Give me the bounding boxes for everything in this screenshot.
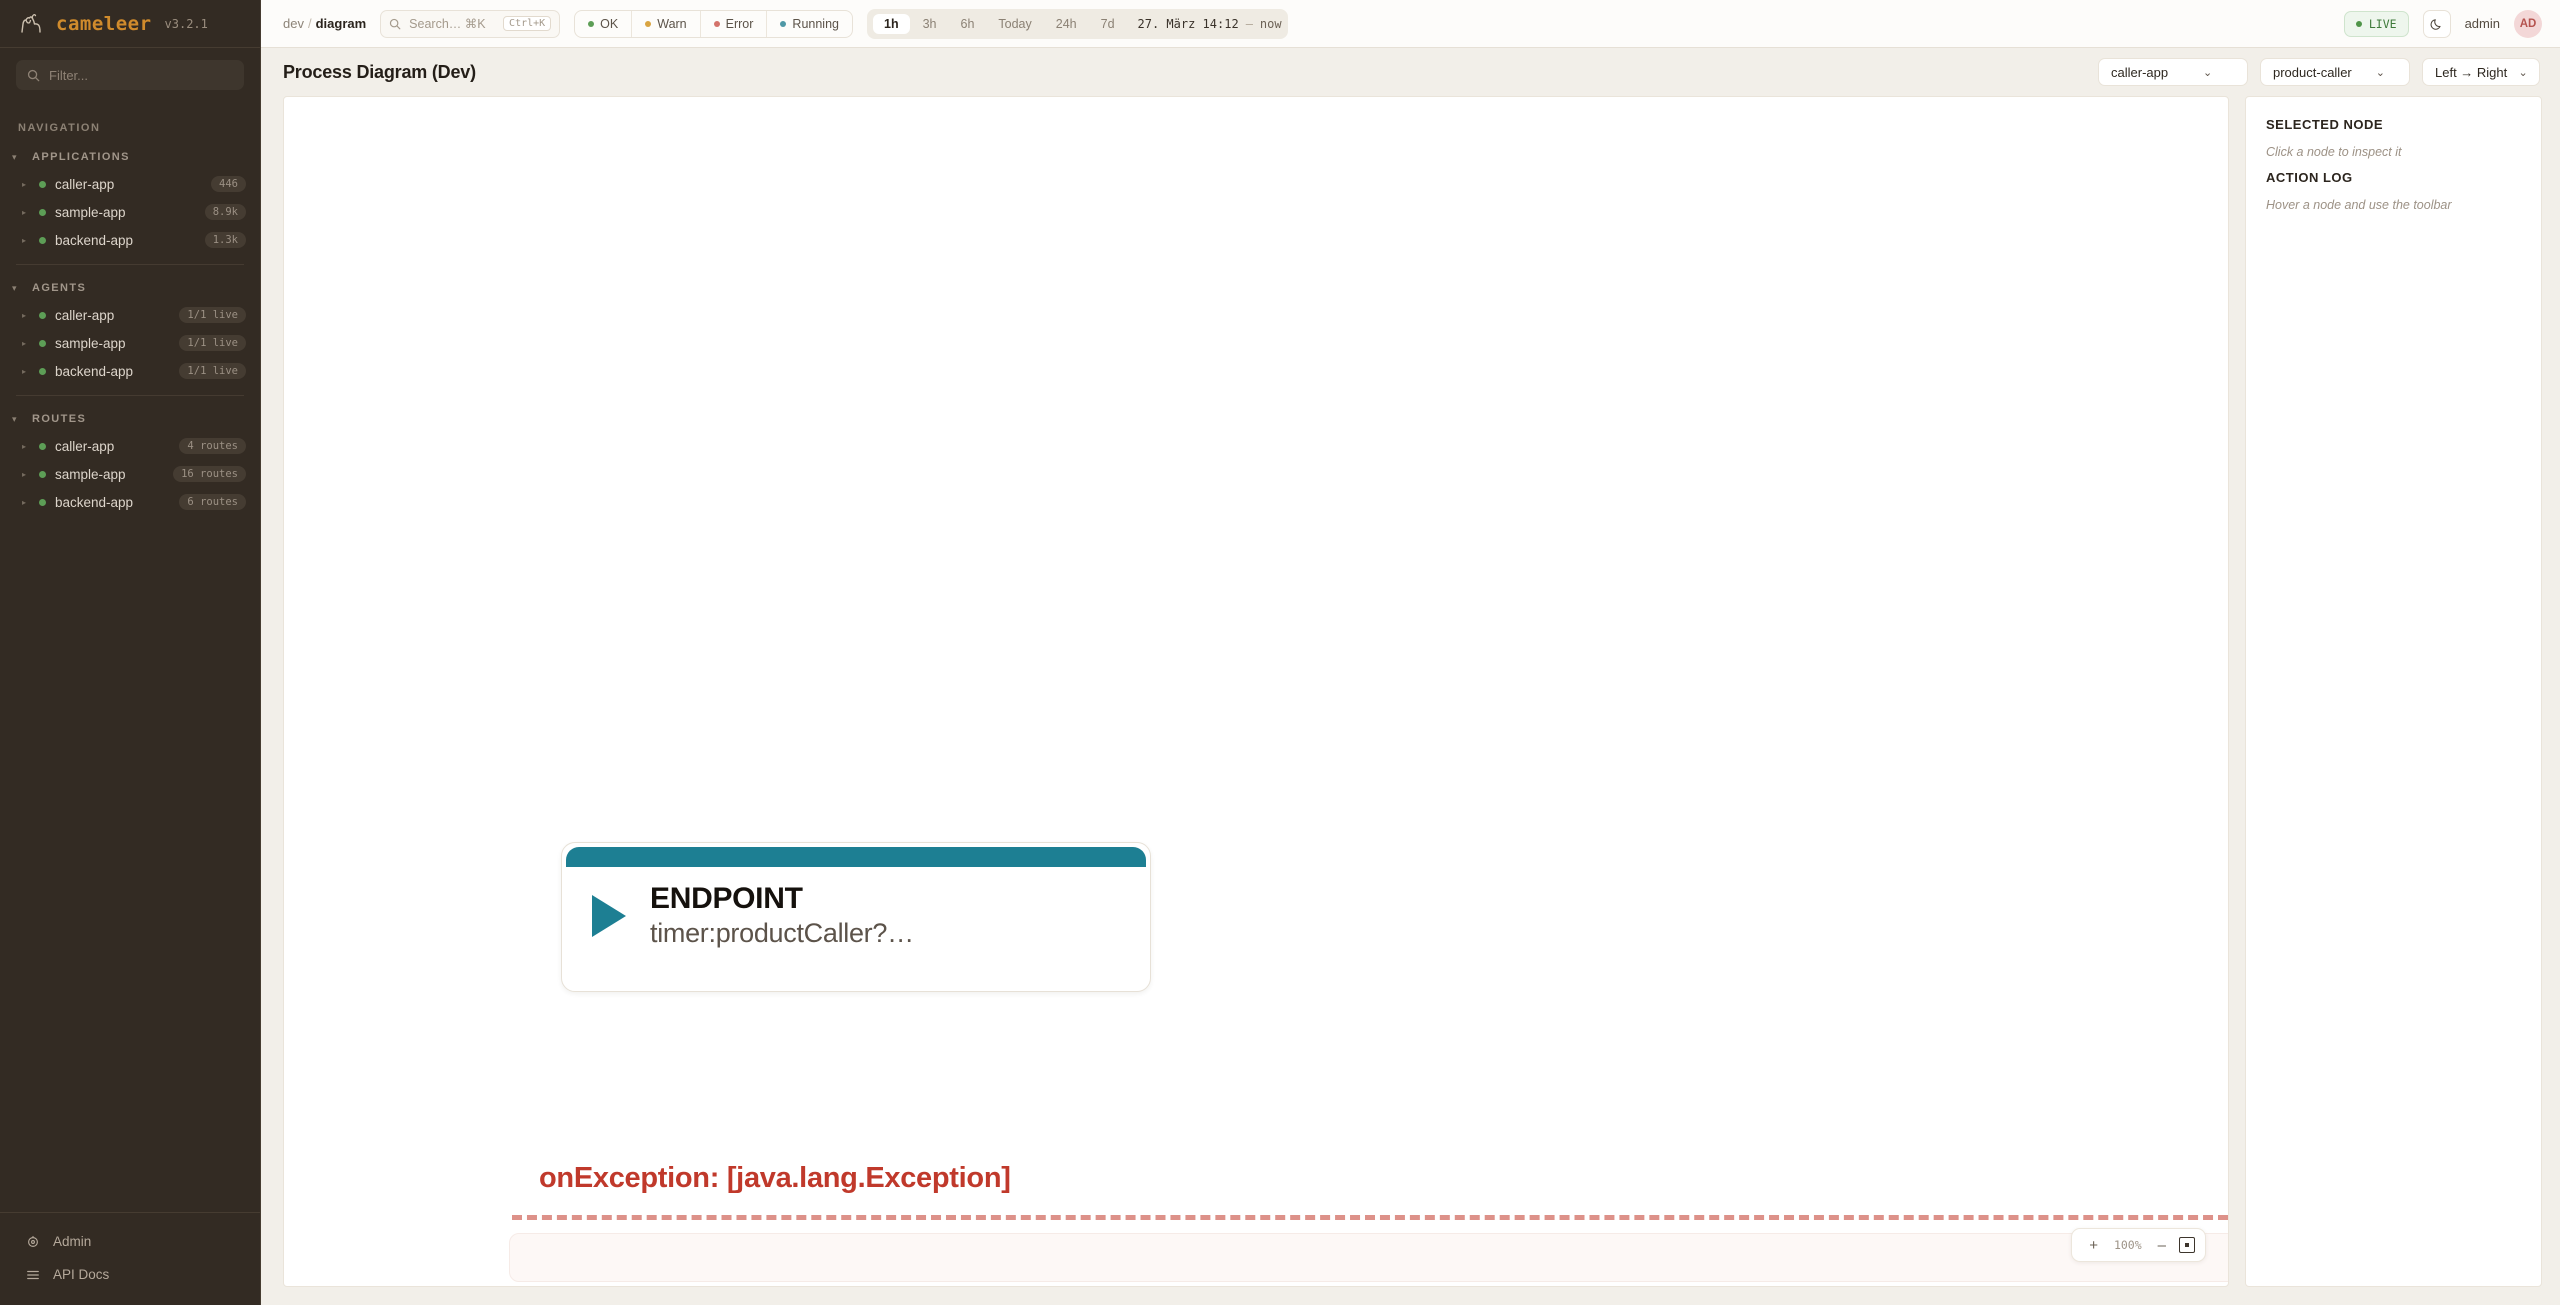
range-from: 27. März 14:12 bbox=[1138, 17, 1239, 31]
status-dot bbox=[645, 21, 651, 27]
route-select-value: product-caller bbox=[2273, 65, 2366, 80]
nav-group-header-applications[interactable]: ▾ APPLICATIONS bbox=[0, 144, 260, 170]
time-range-24h[interactable]: 24h bbox=[1045, 14, 1088, 34]
sidebar-item-routes-backend-app[interactable]: ▸ backend-app 6 routes bbox=[0, 488, 260, 516]
filter-container bbox=[0, 48, 260, 104]
moon-icon bbox=[2430, 17, 2444, 31]
fit-view-icon[interactable] bbox=[2179, 1237, 2195, 1253]
page-header: Process Diagram (Dev) caller-app ⌄ produ… bbox=[261, 48, 2560, 96]
search-shortcut-kbd: Ctrl+K bbox=[503, 16, 551, 31]
main-area: dev/diagram Search… ⌘K Ctrl+K OK Warn bbox=[261, 0, 2560, 1305]
status-dot bbox=[39, 443, 46, 450]
nav-group-header-routes[interactable]: ▾ ROUTES bbox=[0, 406, 260, 432]
status-filter-running[interactable]: Running bbox=[767, 11, 852, 37]
sidebar-item-label: backend-app bbox=[55, 364, 170, 379]
sidebar-item-badge: 16 routes bbox=[173, 466, 246, 482]
app-root: cameleer v3.2.1 NAVIGATION ▾ APPLICATION… bbox=[0, 0, 2560, 1305]
zoom-in-button[interactable]: + bbox=[2082, 1236, 2105, 1255]
sidebar-item-badge: 1/1 live bbox=[179, 363, 246, 379]
inspector-panel: SELECTED NODE Click a node to inspect it… bbox=[2245, 96, 2542, 1287]
sidebar-nav: NAVIGATION ▾ APPLICATIONS ▸ caller-app 4… bbox=[0, 104, 260, 1212]
sidebar-item-badge: 1/1 live bbox=[179, 307, 246, 323]
nav-group-applications: ▾ APPLICATIONS ▸ caller-app 446 ▸ sample… bbox=[0, 144, 260, 254]
direction-select[interactable]: Left → Right ⌄ bbox=[2422, 58, 2540, 86]
chevron-down-icon: ▾ bbox=[12, 153, 22, 162]
sidebar-item-label: backend-app bbox=[55, 495, 170, 510]
status-dot bbox=[39, 471, 46, 478]
live-label: LIVE bbox=[2369, 17, 2397, 31]
time-range-group: 1h 3h 6h Today 24h 7d 27. März 14:12–now bbox=[867, 9, 1288, 39]
brand-header[interactable]: cameleer v3.2.1 bbox=[0, 0, 260, 48]
sidebar-item-label: caller-app bbox=[55, 177, 202, 192]
sidebar-item-admin[interactable]: Admin bbox=[0, 1225, 260, 1258]
status-filter-label: Error bbox=[726, 17, 754, 31]
chevron-right-icon: ▸ bbox=[22, 367, 30, 376]
nav-group-label: AGENTS bbox=[32, 282, 86, 294]
breadcrumb-separator: / bbox=[308, 16, 312, 31]
chevron-right-icon: ▸ bbox=[22, 311, 30, 320]
exception-divider bbox=[512, 1215, 2228, 1220]
status-dot bbox=[780, 21, 786, 27]
breadcrumb-current: diagram bbox=[316, 16, 367, 31]
sidebar-item-badge: 8.9k bbox=[205, 204, 246, 220]
time-range-today[interactable]: Today bbox=[987, 14, 1042, 34]
search-placeholder: Search… ⌘K bbox=[409, 16, 495, 31]
node-uri-label: timer:productCaller?… bbox=[650, 917, 914, 951]
sidebar-item-badge: 1/1 live bbox=[179, 335, 246, 351]
chevron-down-icon: ⌄ bbox=[2519, 66, 2529, 79]
sidebar: cameleer v3.2.1 NAVIGATION ▾ APPLICATION… bbox=[0, 0, 261, 1305]
chevron-right-icon: ▸ bbox=[22, 208, 30, 217]
sidebar-item-label: caller-app bbox=[55, 439, 170, 454]
brand-name: cameleer bbox=[56, 13, 152, 35]
sidebar-item-label: sample-app bbox=[55, 336, 170, 351]
chevron-right-icon: ▸ bbox=[22, 470, 30, 479]
application-select-value: caller-app bbox=[2111, 65, 2193, 80]
chevron-right-icon: ▸ bbox=[22, 498, 30, 507]
zoom-controls: + 100% – bbox=[2071, 1228, 2206, 1262]
chevron-down-icon: ⌄ bbox=[2203, 66, 2237, 79]
exception-label: onException: [java.lang.Exception] bbox=[539, 1162, 1011, 1195]
status-filter-label: OK bbox=[600, 17, 618, 31]
chevron-right-icon: ▸ bbox=[22, 236, 30, 245]
sidebar-item-label: backend-app bbox=[55, 233, 196, 248]
page-title: Process Diagram (Dev) bbox=[283, 62, 476, 83]
sidebar-item-label: caller-app bbox=[55, 308, 170, 323]
sidebar-item-badge: 4 routes bbox=[179, 438, 246, 454]
nav-group-label: ROUTES bbox=[32, 413, 86, 425]
nav-group-agents: ▾ AGENTS ▸ caller-app 1/1 live ▸ sample-… bbox=[0, 275, 260, 385]
top-bar: dev/diagram Search… ⌘K Ctrl+K OK Warn bbox=[261, 0, 2560, 48]
range-dash: – bbox=[1246, 17, 1253, 31]
nav-section-title: NAVIGATION bbox=[0, 114, 260, 144]
sidebar-item-applications-caller-app[interactable]: ▸ caller-app 446 bbox=[0, 170, 260, 198]
action-log-hint: Hover a node and use the toolbar bbox=[2266, 198, 2521, 212]
range-to: now bbox=[1260, 17, 1282, 31]
exception-region bbox=[509, 1233, 2229, 1282]
list-icon bbox=[26, 1268, 40, 1282]
search-input[interactable]: Search… ⌘K Ctrl+K bbox=[380, 10, 560, 38]
node-kind-label: ENDPOINT bbox=[650, 881, 914, 917]
gear-icon bbox=[26, 1235, 40, 1249]
play-icon bbox=[592, 895, 626, 937]
page-body: ENDPOINT timer:productCaller?… onExcepti… bbox=[261, 96, 2560, 1305]
status-dot bbox=[39, 209, 46, 216]
live-badge[interactable]: LIVE bbox=[2344, 11, 2409, 37]
time-range-6h[interactable]: 6h bbox=[950, 14, 986, 34]
sidebar-item-applications-backend-app[interactable]: ▸ backend-app 1.3k bbox=[0, 226, 260, 254]
time-range-7d[interactable]: 7d bbox=[1090, 14, 1126, 34]
search-icon bbox=[389, 18, 401, 30]
sidebar-item-label: sample-app bbox=[55, 467, 164, 482]
divider bbox=[16, 395, 244, 396]
status-filter-label: Warn bbox=[657, 17, 686, 31]
direction-select-value: Left → Right bbox=[2435, 65, 2509, 80]
status-filter-group: OK Warn Error Running bbox=[574, 10, 853, 38]
filter-input[interactable] bbox=[49, 68, 233, 83]
chevron-right-icon: ▸ bbox=[22, 180, 30, 189]
status-dot bbox=[714, 21, 720, 27]
chevron-down-icon: ▾ bbox=[12, 415, 22, 424]
fit-view-dot bbox=[2185, 1243, 2189, 1247]
nav-group-label: APPLICATIONS bbox=[32, 151, 130, 163]
breadcrumb[interactable]: dev/diagram bbox=[283, 16, 366, 31]
diagram-canvas[interactable]: ENDPOINT timer:productCaller?… onExcepti… bbox=[283, 96, 2229, 1287]
camel-icon bbox=[18, 12, 44, 36]
breadcrumb-root[interactable]: dev bbox=[283, 16, 304, 31]
status-filter-ok[interactable]: OK bbox=[575, 11, 632, 37]
divider bbox=[16, 264, 244, 265]
chevron-down-icon: ▾ bbox=[12, 284, 22, 293]
action-log-title: ACTION LOG bbox=[2266, 170, 2521, 185]
search-icon bbox=[27, 69, 40, 82]
sidebar-item-label: API Docs bbox=[53, 1267, 109, 1282]
status-dot bbox=[588, 21, 594, 27]
status-dot bbox=[39, 312, 46, 319]
diagram-node-endpoint[interactable]: ENDPOINT timer:productCaller?… bbox=[561, 842, 1151, 992]
route-select[interactable]: product-caller ⌄ bbox=[2260, 58, 2410, 86]
diagram-selectors: caller-app ⌄ product-caller ⌄ Left → Rig… bbox=[2098, 58, 2540, 86]
selected-node-title: SELECTED NODE bbox=[2266, 117, 2521, 132]
sidebar-item-badge: 1.3k bbox=[205, 232, 246, 248]
brand-version: v3.2.1 bbox=[165, 17, 208, 31]
sidebar-item-api-docs[interactable]: API Docs bbox=[0, 1258, 260, 1291]
filter-box[interactable] bbox=[16, 60, 244, 90]
nav-group-routes: ▾ ROUTES ▸ caller-app 4 routes ▸ sample-… bbox=[0, 406, 260, 516]
sidebar-item-routes-caller-app[interactable]: ▸ caller-app 4 routes bbox=[0, 432, 260, 460]
user-name: admin bbox=[2465, 16, 2500, 31]
sidebar-item-badge: 446 bbox=[211, 176, 246, 192]
status-dot bbox=[39, 340, 46, 347]
sidebar-item-agents-caller-app[interactable]: ▸ caller-app 1/1 live bbox=[0, 301, 260, 329]
sidebar-item-agents-backend-app[interactable]: ▸ backend-app 1/1 live bbox=[0, 357, 260, 385]
status-filter-warn[interactable]: Warn bbox=[632, 11, 700, 37]
node-texts: ENDPOINT timer:productCaller?… bbox=[650, 881, 914, 951]
theme-toggle-button[interactable] bbox=[2423, 10, 2451, 38]
status-filter-error[interactable]: Error bbox=[701, 11, 768, 37]
status-dot bbox=[39, 499, 46, 506]
node-header-bar bbox=[566, 847, 1146, 867]
chevron-right-icon: ▸ bbox=[22, 339, 30, 348]
chevron-right-icon: ▸ bbox=[22, 442, 30, 451]
chevron-down-icon: ⌄ bbox=[2376, 66, 2399, 79]
sidebar-item-routes-sample-app[interactable]: ▸ sample-app 16 routes bbox=[0, 460, 260, 488]
status-dot bbox=[39, 368, 46, 375]
avatar[interactable]: AD bbox=[2514, 10, 2542, 38]
sidebar-item-label: sample-app bbox=[55, 205, 196, 220]
absolute-time-range[interactable]: 27. März 14:12–now bbox=[1128, 17, 1282, 31]
live-dot bbox=[2356, 21, 2362, 27]
nav-group-header-agents[interactable]: ▾ AGENTS bbox=[0, 275, 260, 301]
sidebar-item-label: Admin bbox=[53, 1234, 91, 1249]
sidebar-item-badge: 6 routes bbox=[179, 494, 246, 510]
zoom-level-label: 100% bbox=[2109, 1238, 2147, 1252]
status-filter-label: Running bbox=[792, 17, 839, 31]
status-dot bbox=[39, 237, 46, 244]
sidebar-footer: Admin API Docs bbox=[0, 1212, 260, 1305]
application-select[interactable]: caller-app ⌄ bbox=[2098, 58, 2248, 86]
status-dot bbox=[39, 181, 46, 188]
sidebar-item-applications-sample-app[interactable]: ▸ sample-app 8.9k bbox=[0, 198, 260, 226]
zoom-out-button[interactable]: – bbox=[2151, 1236, 2173, 1255]
selected-node-hint: Click a node to inspect it bbox=[2266, 145, 2521, 159]
sidebar-item-agents-sample-app[interactable]: ▸ sample-app 1/1 live bbox=[0, 329, 260, 357]
node-body: ENDPOINT timer:productCaller?… bbox=[562, 867, 1150, 951]
time-range-3h[interactable]: 3h bbox=[912, 14, 948, 34]
time-range-1h[interactable]: 1h bbox=[873, 14, 910, 34]
